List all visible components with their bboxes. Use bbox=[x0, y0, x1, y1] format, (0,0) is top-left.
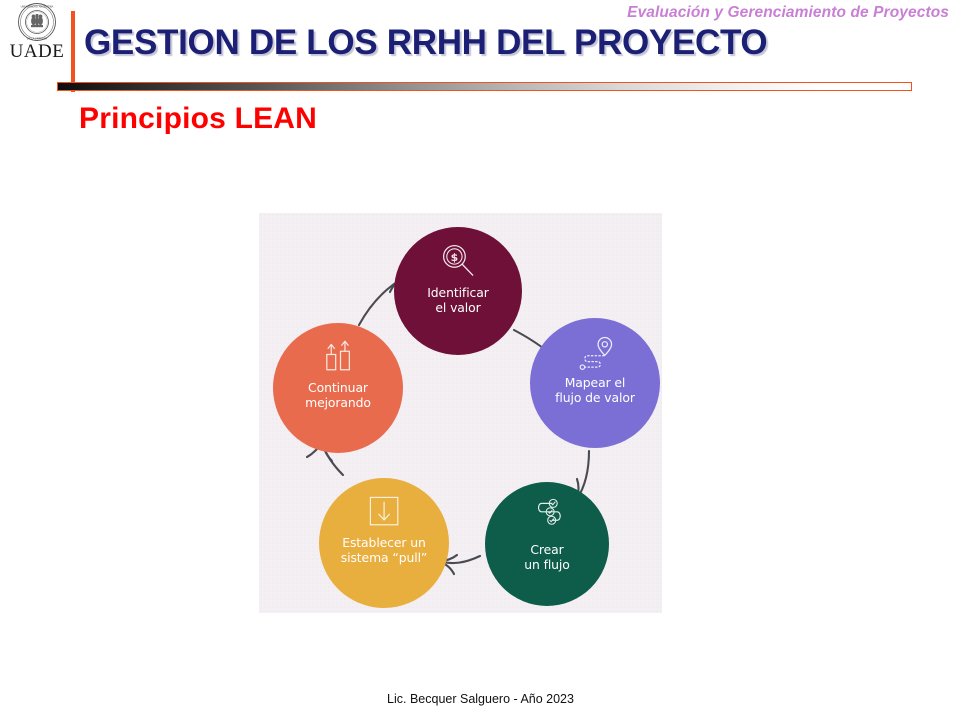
cycle-node-crear-un-flujo[interactable]: Crear un flujo bbox=[485, 482, 609, 606]
uade-wordmark: UADE bbox=[6, 42, 68, 62]
cycle-node-label: Mapear el flujo de valor bbox=[551, 375, 639, 405]
label-line-2: sistema “pull” bbox=[341, 550, 427, 565]
label-line-2: un flujo bbox=[524, 557, 570, 572]
slide-header: UNIVERSIDAD ARGENTINA DE LA EMPRESA UADE… bbox=[0, 0, 961, 95]
magnifier-dollar-icon: $ bbox=[436, 244, 480, 277]
slide-footer: Lic. Becquer Salguero - Año 2023 bbox=[0, 692, 961, 706]
cycle-node-establecer-un-sistema-pull[interactable]: Establecer un sistema “pull” bbox=[319, 478, 449, 608]
checklist-flow-icon bbox=[526, 498, 568, 530]
cycle-node-continuar-mejorando[interactable]: Continuar mejorando bbox=[273, 323, 403, 453]
uade-logo: UNIVERSIDAD ARGENTINA DE LA EMPRESA UADE bbox=[6, 2, 68, 74]
svg-text:UNIVERSIDAD ARGENTINA: UNIVERSIDAD ARGENTINA bbox=[21, 4, 54, 8]
label-line-1: Mapear el bbox=[555, 375, 635, 390]
label-line-1: Identificar bbox=[427, 285, 489, 300]
cycle-node-label: Continuar mejorando bbox=[301, 380, 375, 410]
cycle-node-identificar-el-valor[interactable]: $ Identificar el valor bbox=[394, 227, 522, 355]
section-heading: Principios LEAN bbox=[79, 102, 317, 136]
cycle-node-label: Establecer un sistema “pull” bbox=[337, 535, 431, 565]
page-title: GESTION DE LOS RRHH DEL PROYECTO bbox=[84, 23, 767, 63]
svg-text:DE LA EMPRESA: DE LA EMPRESA bbox=[27, 36, 47, 40]
label-line-2: flujo de valor bbox=[555, 390, 635, 405]
label-line-1: Establecer un bbox=[341, 535, 427, 550]
label-line-2: mejorando bbox=[305, 395, 371, 410]
box-down-arrow-icon bbox=[362, 495, 406, 529]
lean-principles-cycle-diagram: $ Identificar el valor Mapear el flujo d… bbox=[259, 213, 662, 613]
label-line-1: Continuar bbox=[305, 380, 371, 395]
header-divider-bar bbox=[57, 82, 912, 91]
label-line-1: Crear bbox=[524, 542, 570, 557]
uade-university-seal-icon: UNIVERSIDAD ARGENTINA DE LA EMPRESA bbox=[17, 2, 57, 42]
header-vertical-accent-rule bbox=[71, 11, 75, 92]
label-line-2: el valor bbox=[427, 300, 489, 315]
route-map-pin-icon bbox=[573, 335, 617, 369]
course-subtitle: Evaluación y Gerenciamiento de Proyectos bbox=[627, 4, 949, 22]
cycle-node-mapear-el-flujo-de-valor[interactable]: Mapear el flujo de valor bbox=[530, 318, 660, 448]
cycle-node-label: Identificar el valor bbox=[423, 285, 493, 315]
growth-bars-arrows-icon bbox=[316, 340, 360, 374]
svg-text:$: $ bbox=[451, 251, 459, 264]
cycle-node-label: Crear un flujo bbox=[520, 542, 574, 572]
